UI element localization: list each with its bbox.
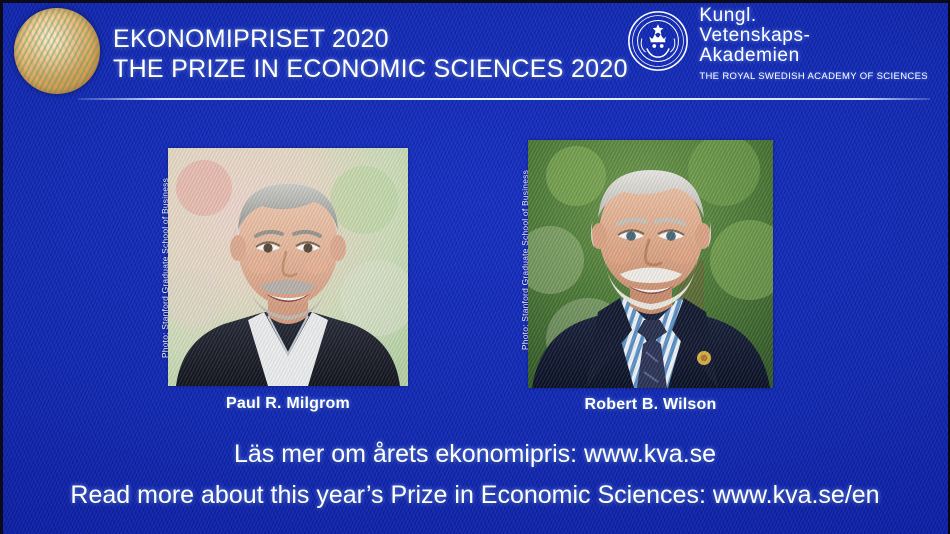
footer-link-swedish[interactable]: Läs mer om årets ekonomipris: www.kva.se bbox=[0, 440, 950, 469]
laureate-photo-milgrom bbox=[168, 148, 408, 386]
academy-name-line-3: Akademien bbox=[699, 46, 928, 66]
laureate-card-wilson: Photo: Stanford Graduate School of Busin… bbox=[528, 140, 773, 414]
portrait-milgrom bbox=[168, 148, 408, 386]
laureate-name-wilson: Robert B. Wilson bbox=[528, 396, 773, 414]
academy-name-line-1: Kungl. bbox=[699, 6, 928, 26]
footer-link-english[interactable]: Read more about this year’s Prize in Eco… bbox=[0, 481, 950, 510]
academy-logo: Kungl. Vetenskaps- Akademien THE ROYAL S… bbox=[627, 6, 928, 82]
slide-screen: EKONOMIPRISET 2020 THE PRIZE IN ECONOMIC… bbox=[0, 0, 950, 534]
nobel-medal-icon bbox=[14, 8, 100, 94]
page-title-swedish: EKONOMIPRISET 2020 bbox=[113, 24, 628, 54]
laureate-name-milgrom: Paul R. Milgrom bbox=[168, 395, 408, 413]
header-divider bbox=[78, 98, 930, 100]
academy-name-block: Kungl. Vetenskaps- Akademien THE ROYAL S… bbox=[699, 6, 928, 82]
header-titles: EKONOMIPRISET 2020 THE PRIZE IN ECONOMIC… bbox=[113, 24, 628, 84]
laureate-card-milgrom: Photo: Stanford Graduate School of Busin… bbox=[168, 148, 408, 413]
page-title-english: THE PRIZE IN ECONOMIC SCIENCES 2020 bbox=[113, 54, 628, 84]
portrait-wilson bbox=[528, 140, 773, 388]
academy-subtitle: THE ROYAL SWEDISH ACADEMY OF SCIENCES bbox=[699, 71, 928, 82]
academy-name-line-2: Vetenskaps- bbox=[699, 26, 928, 46]
royal-academy-seal-icon bbox=[627, 10, 689, 72]
slide-header: EKONOMIPRISET 2020 THE PRIZE IN ECONOMIC… bbox=[0, 0, 950, 100]
laureate-photo-wilson bbox=[528, 140, 773, 388]
medal-relief bbox=[29, 20, 86, 85]
